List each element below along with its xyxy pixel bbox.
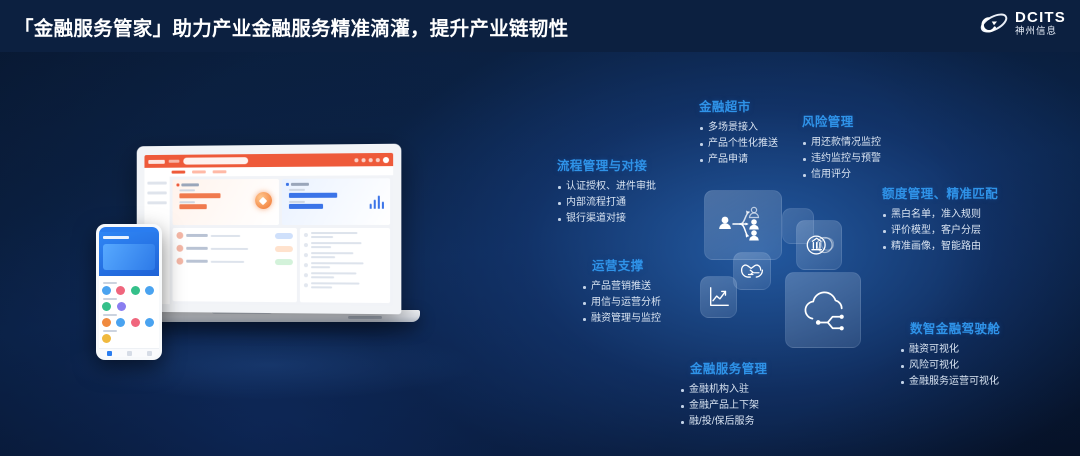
app-icon [131, 286, 140, 295]
app-icon [117, 302, 126, 311]
block-title: 金融超市 [699, 96, 778, 115]
list-item-icon [176, 232, 183, 239]
status-badge [275, 233, 293, 239]
block-title: 数智金融驾驶舱 [910, 318, 1000, 337]
phone-grid-cell[interactable] [131, 286, 142, 295]
text-block-digital-cockpit: 数智金融驾驶舱 融资可视化 风险可视化 金融服务运营可视化 [900, 318, 1000, 391]
phone-bottom-nav [99, 348, 159, 357]
phone-icon-grid [102, 334, 156, 343]
laptop-foot [348, 316, 382, 319]
phone-grid-cell[interactable] [102, 286, 113, 295]
cloud-network-icon [785, 272, 861, 348]
list-item: 融资管理与监控 [582, 311, 661, 327]
status-badge [275, 259, 293, 265]
list-item[interactable] [176, 232, 292, 239]
dashboard-topbar-actions [354, 156, 389, 162]
panel-title-bar [290, 183, 308, 186]
list-item-title [186, 234, 208, 236]
phone-screen [99, 227, 159, 357]
list-item: 金融产品上下架 [680, 398, 767, 414]
slide-canvas: 「金融服务管家」助力产业金融服务精准滴灌，提升产业链韧性 DCITS 神州信息 [0, 0, 1080, 456]
dashboard-body [144, 175, 393, 306]
metric-label [179, 189, 195, 191]
phone-grid-cell[interactable] [102, 318, 113, 327]
phone-section-label [103, 282, 117, 284]
phone-icon-grid [102, 302, 156, 311]
block-title: 运营支撑 [592, 255, 661, 274]
phone-grid-cell[interactable] [145, 286, 156, 295]
list-item[interactable] [176, 258, 292, 265]
topbar-icon[interactable] [369, 158, 373, 162]
metric-value [179, 204, 206, 209]
list-item: 风险可视化 [900, 358, 1000, 374]
panel-heading [285, 182, 386, 186]
phone-body [99, 276, 159, 348]
list-item: 多场景接入 [699, 120, 778, 136]
list-item[interactable] [304, 242, 386, 248]
text-block-quota-matching: 额度管理、精准匹配 黑白名单，准入规则 评价模型，客户分层 精准画像，智能路由 [882, 183, 998, 256]
list-item: 金融服务运营可视化 [900, 374, 1000, 390]
people-network-icon [704, 190, 782, 260]
metric-value [179, 193, 220, 198]
app-icon [116, 318, 125, 327]
logo-chinese: 神州信息 [1015, 27, 1066, 37]
stat-panel-orange [173, 179, 279, 225]
growth-chart-icon [700, 276, 737, 318]
nav-item-center[interactable] [127, 351, 132, 356]
list-item: 金融机构入驻 [680, 382, 767, 398]
text-block-operations-support: 运营支撑 产品营销推送 用信与运营分析 融资管理与监控 [582, 255, 661, 328]
list-item: 银行渠道对接 [557, 211, 656, 227]
metric-label [179, 201, 195, 203]
phone-grid-cell[interactable] [102, 334, 114, 343]
list-item: 认证授权、进件审批 [557, 179, 656, 195]
topbar-icon[interactable] [354, 158, 358, 162]
block-title: 金融服务管理 [690, 358, 767, 377]
app-icon [102, 286, 111, 295]
bank-coins-icon [796, 220, 842, 270]
sidebar-item[interactable] [147, 182, 166, 185]
list-item[interactable] [304, 262, 386, 268]
list-item-sub [211, 247, 248, 249]
list-item[interactable] [304, 282, 386, 288]
orbit-swirl-icon [979, 8, 1009, 38]
app-icon [102, 334, 111, 343]
phone-grid-cell[interactable] [116, 318, 127, 327]
sidebar-item[interactable] [147, 201, 166, 204]
process-list [173, 228, 297, 302]
list-item-icon [176, 258, 183, 265]
app-icon [131, 318, 140, 327]
laptop-dashboard-mockup [137, 144, 402, 315]
phone-grid-cell[interactable] [145, 318, 156, 327]
device-mockups [96, 140, 456, 360]
dashboard-screen [144, 153, 393, 306]
bullet-icon [304, 283, 308, 287]
list-item: 精准画像，智能路由 [882, 239, 998, 255]
capability-icon-cluster [700, 188, 880, 363]
topbar-icon[interactable] [376, 158, 380, 162]
status-badge [275, 246, 293, 252]
list-item-title [186, 260, 208, 263]
phone-grid-cell[interactable] [102, 302, 114, 311]
list-item: 产品申请 [699, 152, 778, 168]
app-icon [102, 302, 111, 311]
page-title: 「金融服务管家」助力产业金融服务精准滴灌，提升产业链韧性 [14, 12, 568, 41]
list-item: 用还款情况监控 [802, 135, 881, 151]
metric-value [288, 192, 336, 197]
sidebar-item[interactable] [147, 191, 166, 194]
list-item: 违约监控与预警 [802, 151, 881, 167]
phone-grid-cell[interactable] [117, 302, 129, 311]
app-icon [102, 318, 111, 327]
tab-active[interactable] [172, 171, 186, 174]
app-icon [145, 286, 154, 295]
list-item: 产品个性化推送 [699, 136, 778, 152]
bullet-icon [304, 263, 308, 267]
block-title: 风险管理 [802, 111, 881, 130]
text-block-financial-mart: 金融超市 多场景接入 产品个性化推送 产品申请 [699, 96, 778, 169]
list-item[interactable] [176, 245, 292, 252]
dashboard-menu [169, 160, 180, 163]
tab-item[interactable] [192, 171, 206, 174]
logo-english: DCITS [1015, 10, 1066, 25]
bullet-icon [304, 233, 308, 237]
text-block-flow: 流程管理与对接 认证授权、进件审批 内部流程打通 银行渠道对接 [557, 155, 656, 228]
panel-marker [285, 183, 288, 186]
metric-value [288, 204, 322, 209]
handshake-icon [733, 252, 771, 290]
slide-header: 「金融服务管家」助力产业金融服务精准滴灌，提升产业链韧性 DCITS 神州信息 [0, 0, 1080, 52]
phone-section-label [103, 314, 117, 316]
dashboard-lists [173, 228, 390, 303]
block-list: 多场景接入 产品个性化推送 产品申请 [699, 120, 778, 169]
block-list: 用还款情况监控 违约监控与预警 信用评分 [802, 135, 881, 184]
list-item[interactable] [304, 272, 386, 278]
app-icon [145, 318, 154, 327]
phone-hero-title [103, 236, 129, 239]
topbar-icon[interactable] [362, 158, 366, 162]
phone-grid-cell[interactable] [131, 318, 142, 327]
panel-title-bar [181, 184, 199, 187]
bullet-icon [304, 243, 308, 247]
panel-heading [176, 183, 274, 186]
phone-section-label [103, 330, 117, 332]
dashboard-logo [148, 159, 164, 163]
list-item[interactable] [304, 232, 386, 238]
block-list: 黑白名单，准入规则 评价模型，客户分层 精准画像，智能路由 [882, 207, 998, 256]
app-icon [116, 286, 125, 295]
nav-item-home[interactable] [107, 351, 112, 356]
list-item: 融资可视化 [900, 342, 1000, 358]
block-list: 金融机构入驻 金融产品上下架 融/投/保后服务 [680, 382, 767, 431]
dashboard-main [170, 175, 393, 306]
block-title: 额度管理、精准匹配 [882, 183, 998, 202]
phone-app-mockup [96, 224, 162, 360]
block-list: 融资可视化 风险可视化 金融服务运营可视化 [900, 342, 1000, 391]
bullet-icon [304, 273, 308, 277]
avatar[interactable] [383, 156, 389, 162]
list-item-title [186, 247, 208, 250]
metric-label [288, 200, 304, 202]
bullet-icon [304, 253, 308, 257]
block-list: 产品营销推送 用信与运营分析 融资管理与监控 [582, 279, 661, 328]
text-block-financial-service-management: 金融服务管理 金融机构入驻 金融产品上下架 融/投/保后服务 [680, 358, 767, 431]
list-item: 内部流程打通 [557, 195, 656, 211]
list-item-icon [176, 245, 183, 252]
list-item: 产品营销推送 [582, 279, 661, 295]
block-list: 认证授权、进件审批 内部流程打通 银行渠道对接 [557, 179, 656, 228]
dashboard-search-input[interactable] [183, 157, 248, 164]
list-item: 用信与运营分析 [582, 295, 661, 311]
phone-grid-cell[interactable] [116, 286, 127, 295]
logo-text: DCITS 神州信息 [1015, 10, 1066, 37]
phone-section-label [103, 298, 117, 300]
list-item: 黑白名单，准入规则 [882, 207, 998, 223]
list-item: 评价模型，客户分层 [882, 223, 998, 239]
notice-list [300, 228, 390, 303]
brand-logo: DCITS 神州信息 [979, 8, 1066, 38]
phone-icon-grid [102, 318, 156, 327]
panel-marker [176, 183, 179, 186]
decor-orb-icon [255, 192, 272, 209]
block-title: 流程管理与对接 [557, 155, 656, 174]
nav-item-profile[interactable] [147, 351, 152, 356]
stat-panel-blue [281, 178, 390, 225]
stat-panels [173, 178, 390, 225]
list-item: 融/投/保后服务 [680, 414, 767, 430]
phone-hero-card [103, 244, 155, 270]
list-item-sub [211, 260, 245, 262]
list-item[interactable] [304, 252, 386, 258]
list-item-sub [211, 234, 241, 236]
list-item: 信用评分 [802, 167, 881, 183]
tab-item[interactable] [213, 171, 227, 174]
metric-label [288, 189, 304, 191]
text-block-risk-management: 风险管理 用还款情况监控 违约监控与预警 信用评分 [802, 111, 881, 184]
phone-icon-grid [102, 286, 156, 295]
bar-chart-icon [369, 195, 384, 209]
phone-hero [99, 232, 159, 276]
